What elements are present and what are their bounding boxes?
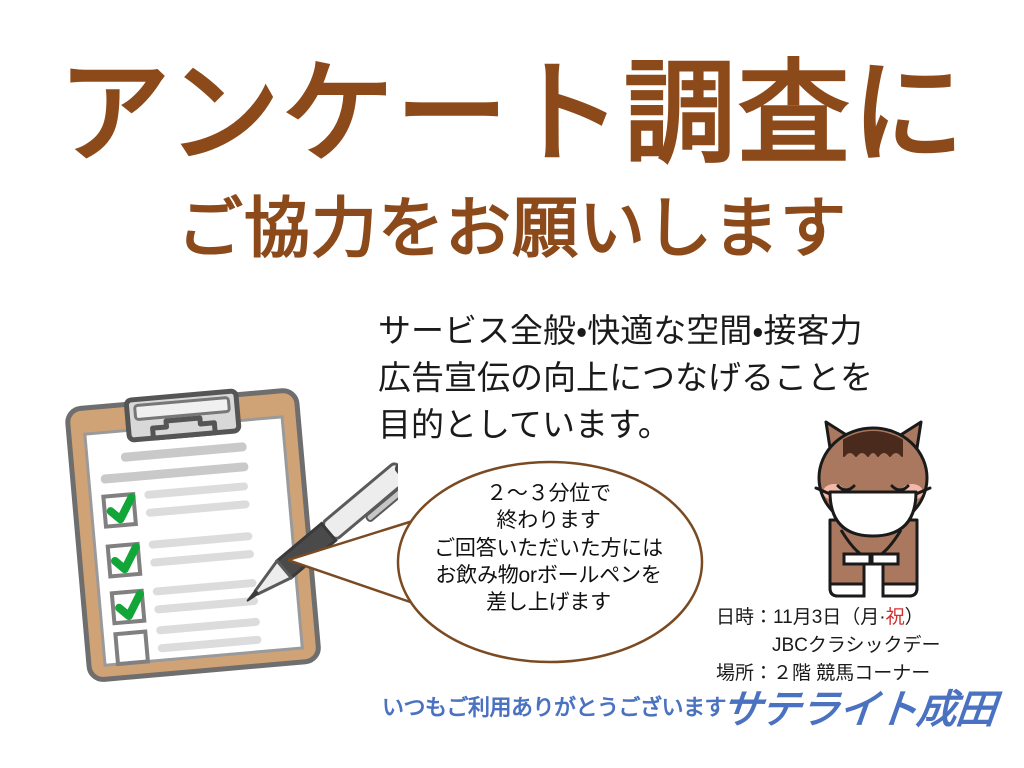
headline-secondary: ご協力をお願いします — [0, 196, 1024, 262]
holiday-marker: 祝 — [886, 607, 905, 628]
brand-logo: サテライト成田 — [720, 690, 997, 730]
horse-hoof-right — [883, 584, 917, 596]
event-place-line: 場所：２階 競馬コーナー — [716, 660, 984, 688]
event-date-value: 11月3日（月· — [773, 607, 886, 628]
purpose-line-1: サービス全般・快適な空間・接客力 — [378, 308, 978, 355]
horse-mane — [844, 432, 902, 456]
bubble-line-5: 差し上げます — [401, 589, 696, 616]
horse-hand-right — [872, 554, 898, 564]
event-info: 日時：11月3日（月·祝） JBCクラシックデー 場所：２階 競馬コーナー — [716, 604, 984, 688]
horse-mascot — [786, 412, 961, 602]
horse-hoof-left — [830, 584, 864, 596]
bubble-line-3: ご回答いただいた方には — [401, 535, 696, 562]
event-date-line: 日時：11月3日（月·祝） — [716, 604, 984, 632]
bubble-line-1: ２～３分位で — [401, 480, 696, 507]
event-date-label: 日時： — [716, 607, 773, 628]
clipboard-clip — [126, 391, 239, 440]
bubble-text: ２～３分位で 終わります ご回答いただいた方には お飲み物orボールペンを 差し… — [401, 480, 696, 616]
headline-primary: アンケート調査に — [0, 58, 1024, 170]
horse-mascot-svg — [786, 412, 961, 602]
event-place-label: 場所： — [716, 663, 773, 684]
empty-checkbox — [115, 632, 148, 665]
purpose-line-2: 広告宣伝の向上につなげることを — [378, 355, 978, 402]
event-date-close: ） — [905, 607, 924, 628]
event-name: JBCクラシックデー — [716, 632, 984, 660]
bubble-line-2: 終わります — [401, 507, 696, 534]
speech-bubble: ２～３分位で 終わります ご回答いただいた方には お飲み物orボールペンを 差し… — [288, 458, 708, 668]
horse-hand-left — [844, 554, 870, 564]
poster-canvas: アンケート調査に ご協力をお願いします サービス全般・快適な空間・接客力 広告宣… — [0, 0, 1024, 768]
footer-thanks-text: いつもご利用ありがとうございます — [382, 698, 726, 720]
event-place-value: ２階 競馬コーナー — [773, 663, 930, 684]
bubble-line-4: お飲み物orボールペンを — [401, 562, 696, 589]
